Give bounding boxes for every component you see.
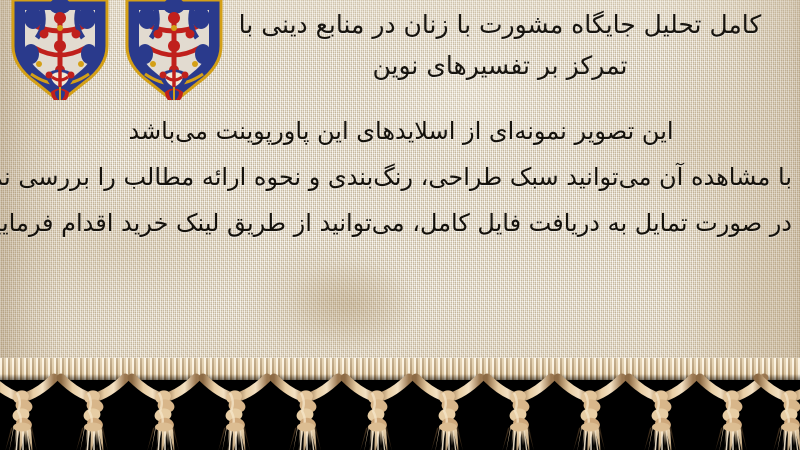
ornament-group: [0, 0, 240, 100]
body-line-2: با مشاهده آن می‌توانید سبک طراحی، رنگ‌بن…: [10, 154, 792, 200]
title-line-2: تمرکز بر تفسیرهای نوین: [220, 45, 780, 86]
carpet-medallion-ornament-left: [6, 0, 116, 100]
slide-title: کامل تحلیل جایگاه مشورت با زنان در منابع…: [220, 4, 780, 86]
carpet-fringe-tassels: [0, 358, 800, 450]
carpet-fringe-region: [0, 358, 800, 450]
body-line-1: این تصویر نمونه‌ای از اسلایدهای این پاور…: [10, 108, 792, 154]
carpet-medallion-ornament-right: [120, 0, 230, 100]
slide-body-text: این تصویر نمونه‌ای از اسلایدهای این پاور…: [10, 108, 792, 246]
presentation-slide: کامل تحلیل جایگاه مشورت با زنان در منابع…: [0, 0, 800, 450]
title-line-1: کامل تحلیل جایگاه مشورت با زنان در منابع…: [220, 4, 780, 45]
body-line-3: در صورت تمایل به دریافت فایل کامل، می‌تو…: [10, 200, 792, 246]
